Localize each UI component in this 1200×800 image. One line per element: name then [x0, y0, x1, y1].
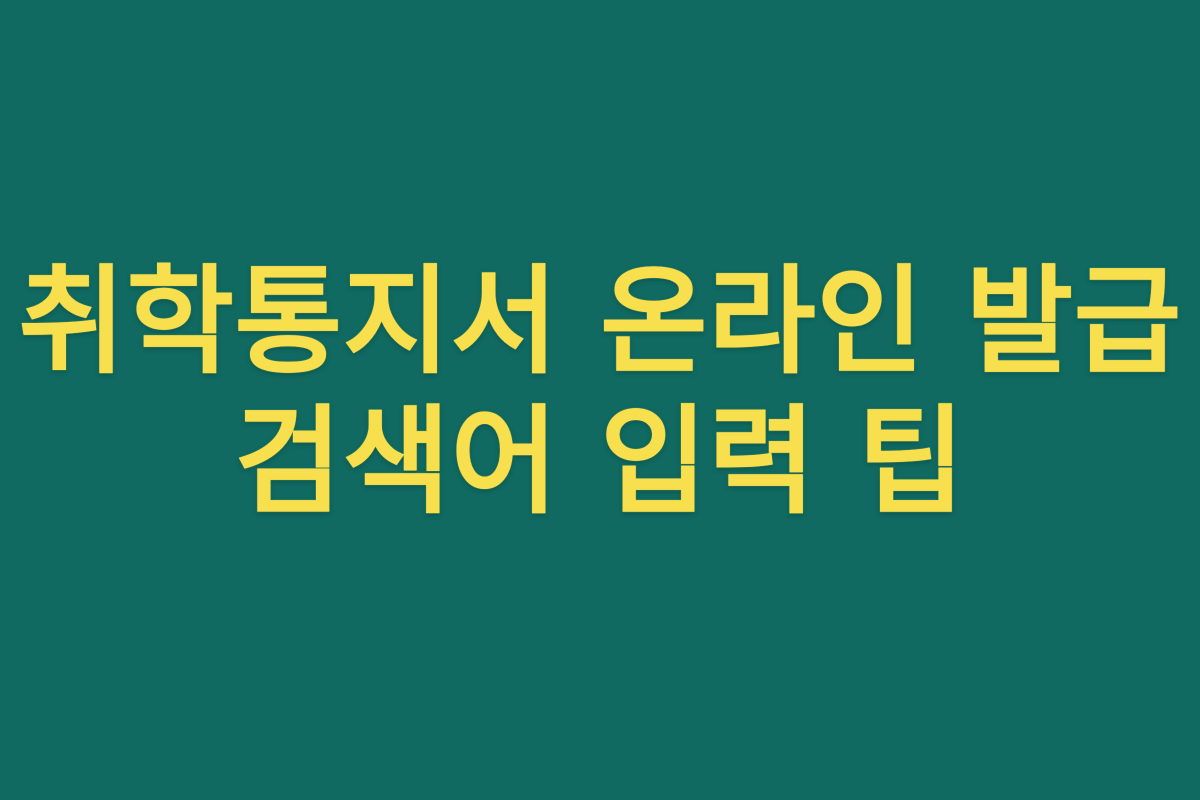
banner-canvas: 취학통지서 온라인 발급 검색어 입력 팁: [0, 0, 1200, 800]
headline-line-1: 취학통지서 온라인 발급: [18, 252, 1181, 392]
headline-line-2: 검색어 입력 팁: [234, 392, 965, 532]
headline-block: 취학통지서 온라인 발급 검색어 입력 팁: [0, 252, 1200, 532]
